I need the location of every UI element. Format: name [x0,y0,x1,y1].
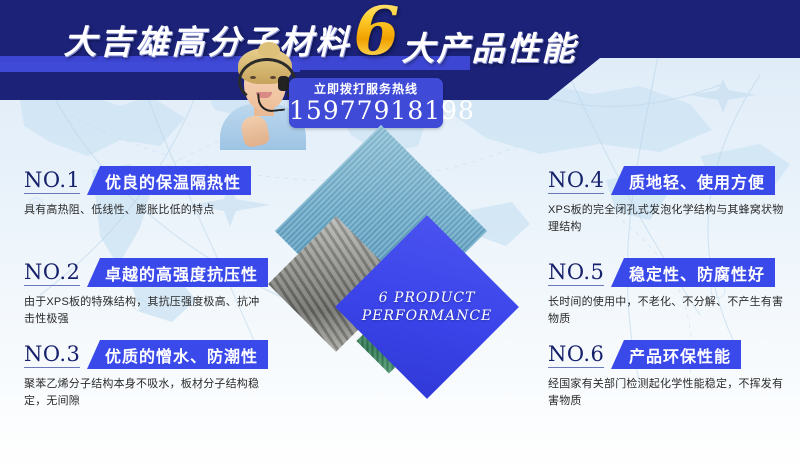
feature-title-ribbon: 质地轻、使用方便 [611,166,775,195]
feature-title: 卓越的高强度抗压性 [105,261,258,285]
feature-header: NO.2 卓越的高强度抗压性 [24,258,274,288]
feature-item-1: NO.1 优良的保温隔热性 具有高热阻、低线性、膨胀比低的特点 [24,166,274,219]
feature-title-ribbon: 优质的憎水、防潮性 [87,340,268,369]
feature-item-4: NO.4 质地轻、使用方便 XPS板的完全闭孔式发泡化学结构与其蜂窝状物理结构 [548,166,798,236]
feature-description: 经国家有关部门检测起化学性能稳定，不挥发有害物质 [548,376,786,410]
center-diamond-artwork: 6 PRODUCT PERFORMANCE [278,138,540,423]
feature-number: NO.1 [24,168,80,194]
headset-earpiece-icon [278,76,289,91]
feature-description: XPS板的完全闭孔式发泡化学结构与其蜂窝状物理结构 [548,202,786,236]
title-main-text: 大吉雄高分子材料 [64,23,352,62]
feature-title: 优良的保温隔热性 [105,169,241,193]
feature-header: NO.1 优良的保温隔热性 [24,166,274,196]
feature-header: NO.4 质地轻、使用方便 [548,166,798,196]
feature-description: 长时间的使用中，不老化、不分解、不产生有害物质 [548,294,786,328]
banner-root: 大吉雄高分子材料6大产品性能 立即拨打服务热线 15977918198 6 PR… [0,0,800,474]
feature-header: NO.6 产品环保性能 [548,340,798,370]
feature-number: NO.4 [548,168,604,194]
feature-number: NO.2 [24,260,80,286]
feature-title: 优质的憎水、防潮性 [105,343,258,367]
feature-item-6: NO.6 产品环保性能 经国家有关部门检测起化学性能稳定，不挥发有害物质 [548,340,798,410]
feature-number: NO.5 [548,260,604,286]
hotline-label: 立即拨打服务热线 [289,81,443,97]
feature-item-5: NO.5 稳定性、防腐性好 长时间的使用中，不老化、不分解、不产生有害物质 [548,258,798,328]
operator-hair-bun [258,42,280,58]
title-number-six: 6 [354,0,400,70]
feature-header: NO.3 优质的憎水、防潮性 [24,340,274,370]
feature-description: 由于XPS板的特殊结构，其抗压强度极高、抗冲击性极强 [24,294,262,328]
feature-number: NO.6 [548,342,604,368]
feature-number: NO.3 [24,342,80,368]
feature-item-3: NO.3 优质的憎水、防潮性 聚苯乙烯分子结构本身不吸水，板材分子结构稳定，无间… [24,340,274,410]
feature-description: 聚苯乙烯分子结构本身不吸水，板材分子结构稳定，无间隙 [24,376,262,410]
feature-description: 具有高热阻、低线性、膨胀比低的特点 [24,202,262,219]
feature-title-ribbon: 稳定性、防腐性好 [611,258,775,287]
feature-title-ribbon: 卓越的高强度抗压性 [87,258,268,287]
page-title: 大吉雄高分子材料6大产品性能 [0,6,640,68]
feature-header: NO.5 稳定性、防腐性好 [548,258,798,288]
feature-title: 稳定性、防腐性好 [629,261,765,285]
hotline-box[interactable]: 立即拨打服务热线 15977918198 [289,78,443,128]
feature-title-ribbon: 产品环保性能 [611,340,741,369]
title-tail-text: 大产品性能 [401,29,576,68]
hotline-phone-number[interactable]: 15977918198 [289,97,443,125]
feature-title: 质地轻、使用方便 [629,169,765,193]
feature-title-ribbon: 优良的保温隔热性 [87,166,251,195]
feature-item-2: NO.2 卓越的高强度抗压性 由于XPS板的特殊结构，其抗压强度极高、抗冲击性极… [24,258,274,328]
feature-title: 产品环保性能 [629,343,731,367]
